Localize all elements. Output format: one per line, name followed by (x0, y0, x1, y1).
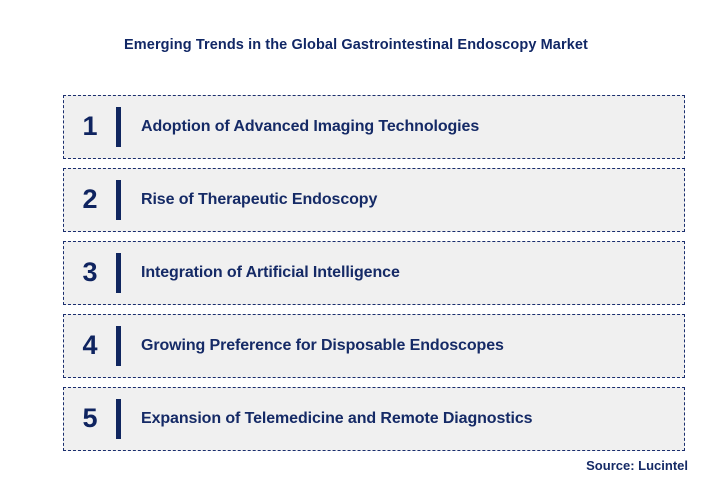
trend-label: Expansion of Telemedicine and Remote Dia… (141, 410, 684, 428)
trend-item-5[interactable]: 5 Expansion of Telemedicine and Remote D… (63, 387, 685, 451)
trend-number: 1 (64, 113, 116, 142)
trend-label: Rise of Therapeutic Endoscopy (141, 191, 684, 209)
vertical-divider-icon (116, 180, 121, 220)
trend-number: 3 (64, 259, 116, 288)
trend-label: Integration of Artificial Intelligence (141, 264, 684, 282)
trend-number: 2 (64, 186, 116, 215)
trend-list: 1 Adoption of Advanced Imaging Technolog… (63, 95, 685, 451)
trend-number: 5 (64, 405, 116, 434)
trend-item-2[interactable]: 2 Rise of Therapeutic Endoscopy (63, 168, 685, 232)
trend-item-4[interactable]: 4 Growing Preference for Disposable Endo… (63, 314, 685, 378)
vertical-divider-icon (116, 399, 121, 439)
trend-item-3[interactable]: 3 Integration of Artificial Intelligence (63, 241, 685, 305)
trend-item-1[interactable]: 1 Adoption of Advanced Imaging Technolog… (63, 95, 685, 159)
source-attribution: Source: Lucintel (586, 458, 688, 473)
trend-label: Adoption of Advanced Imaging Technologie… (141, 118, 684, 136)
vertical-divider-icon (116, 253, 121, 293)
trend-number: 4 (64, 332, 116, 361)
trend-label: Growing Preference for Disposable Endosc… (141, 337, 684, 355)
vertical-divider-icon (116, 107, 121, 147)
infographic-canvas: Emerging Trends in the Global Gastrointe… (0, 0, 712, 501)
vertical-divider-icon (116, 326, 121, 366)
page-title: Emerging Trends in the Global Gastrointe… (0, 37, 712, 53)
